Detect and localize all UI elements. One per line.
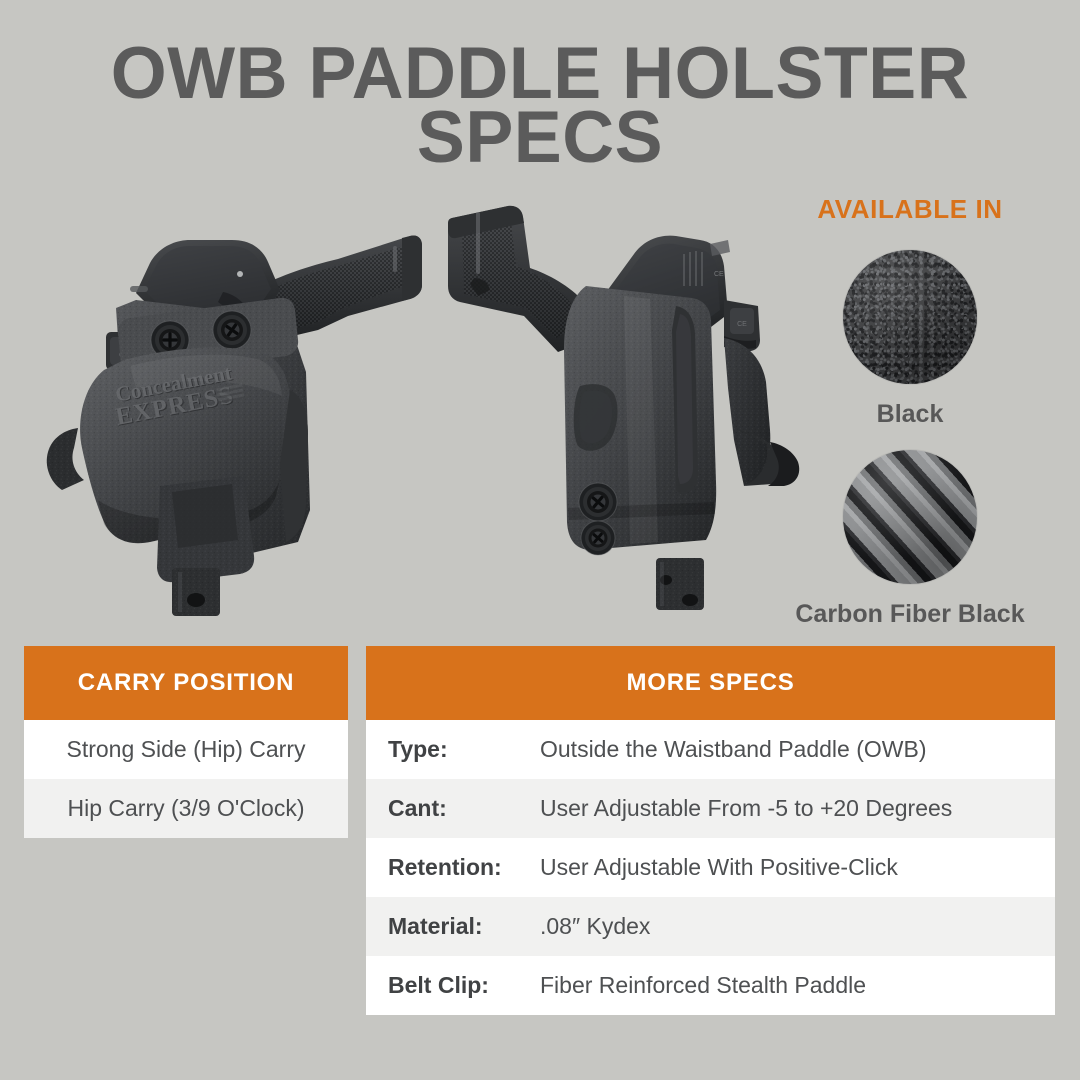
spec-value-type: Outside the Waistband Paddle (OWB) <box>540 736 927 763</box>
carry-position-value: Strong Side (Hip) Carry <box>66 736 305 763</box>
table-row: Belt Clip: Fiber Reinforced Stealth Padd… <box>366 956 1055 1015</box>
table-row: Hip Carry (3/9 O'Clock) <box>24 779 348 838</box>
carry-position-table: CARRY POSITION Strong Side (Hip) Carry H… <box>24 646 348 838</box>
table-row: Cant: User Adjustable From -5 to +20 Deg… <box>366 779 1055 838</box>
carbon-fiber-weave-swatch[interactable] <box>843 450 977 584</box>
carry-position-value: Hip Carry (3/9 O'Clock) <box>68 795 305 822</box>
black-kydex-texture-swatch[interactable] <box>843 250 977 384</box>
holster-front-view-image: CE <box>18 190 438 620</box>
available-in-label: AVAILABLE IN <box>760 194 1060 225</box>
color-option-black-label: Black <box>760 400 1060 429</box>
spec-label-belt-clip: Belt Clip: <box>388 972 540 999</box>
spec-value-retention: User Adjustable With Positive-Click <box>540 854 898 881</box>
table-row: Material: .08″ Kydex <box>366 897 1055 956</box>
page-title: OWB PADDLE HOLSTER SPECS <box>0 42 1080 170</box>
spec-value-cant: User Adjustable From -5 to +20 Degrees <box>540 795 952 822</box>
spec-label-cant: Cant: <box>388 795 540 822</box>
table-row: Retention: User Adjustable With Positive… <box>366 838 1055 897</box>
table-row: Type: Outside the Waistband Paddle (OWB) <box>366 720 1055 779</box>
infographic-canvas: OWB PADDLE HOLSTER SPECS <box>0 0 1080 1080</box>
more-specs-table: MORE SPECS Type: Outside the Waistband P… <box>366 646 1055 1015</box>
more-specs-table-header: MORE SPECS <box>366 646 1055 720</box>
color-option-black[interactable]: Black <box>760 250 1060 429</box>
spec-value-material: .08″ Kydex <box>540 913 650 940</box>
table-row: Strong Side (Hip) Carry <box>24 720 348 779</box>
carry-position-table-header: CARRY POSITION <box>24 646 348 720</box>
svg-text:CE: CE <box>737 321 747 328</box>
spec-label-type: Type: <box>388 736 540 763</box>
spec-value-belt-clip: Fiber Reinforced Stealth Paddle <box>540 972 866 999</box>
color-option-carbon-fiber-black[interactable]: Carbon Fiber Black <box>760 450 1060 629</box>
spec-label-material: Material: <box>388 913 540 940</box>
spec-label-retention: Retention: <box>388 854 540 881</box>
svg-text:CE: CE <box>714 271 724 278</box>
page-title-line-2: SPECS <box>8 106 1072 170</box>
color-option-carbon-fiber-black-label: Carbon Fiber Black <box>760 600 1060 629</box>
